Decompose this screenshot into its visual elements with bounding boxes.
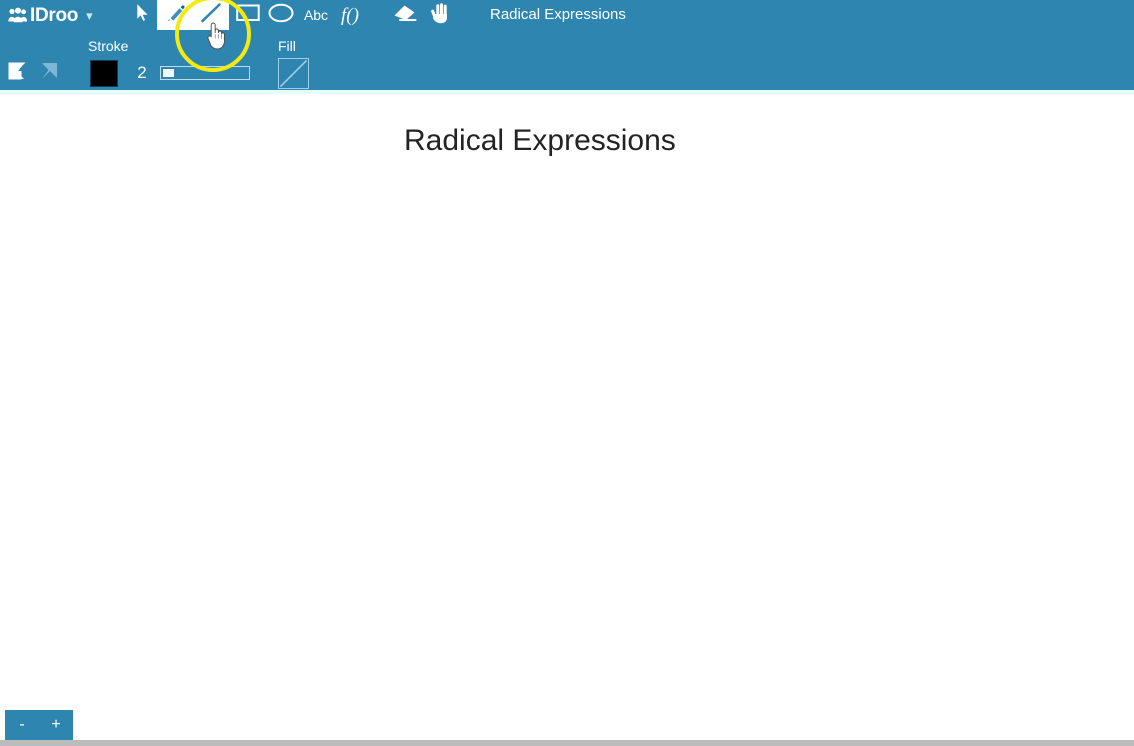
canvas-title-text[interactable]: Radical Expressions bbox=[404, 122, 676, 160]
fill-label: Fill bbox=[278, 39, 296, 53]
redo-button[interactable] bbox=[34, 58, 64, 88]
app-menu-button[interactable]: IDroo ▾ bbox=[8, 3, 93, 27]
tool-select[interactable] bbox=[125, 0, 161, 30]
tool-rectangle[interactable] bbox=[230, 0, 266, 30]
cursor-arrow-icon bbox=[136, 3, 150, 27]
idroo-whiteboard-app: IDroo ▾ bbox=[0, 0, 1134, 746]
pencil-icon bbox=[164, 2, 186, 29]
tool-formula[interactable]: f() bbox=[332, 0, 368, 30]
tool-pen[interactable] bbox=[157, 0, 193, 30]
stroke-width-slider[interactable] bbox=[160, 66, 250, 80]
hand-icon bbox=[429, 1, 453, 30]
whiteboard-canvas[interactable]: Radical Expressions bbox=[0, 94, 1134, 740]
stroke-color-swatch[interactable] bbox=[90, 60, 118, 87]
undo-arrow-icon bbox=[5, 59, 29, 88]
stroke-label: Stroke bbox=[88, 39, 128, 53]
formula-icon: f() bbox=[341, 6, 359, 25]
rectangle-icon bbox=[236, 4, 260, 27]
zoom-in-button[interactable]: + bbox=[39, 710, 73, 740]
stroke-width-slider-handle[interactable] bbox=[163, 69, 174, 77]
app-name-label: IDroo bbox=[30, 6, 78, 25]
tool-ellipse[interactable] bbox=[263, 0, 299, 30]
no-fill-icon bbox=[279, 59, 308, 88]
zoom-control: - + bbox=[5, 710, 73, 740]
horizontal-scrollbar-thumb[interactable] bbox=[0, 740, 1134, 746]
document-title-label: Radical Expressions bbox=[490, 4, 626, 26]
toolbar: IDroo ▾ bbox=[0, 0, 1134, 90]
line-icon bbox=[199, 1, 223, 30]
eraser-icon bbox=[392, 2, 418, 29]
tool-line[interactable] bbox=[193, 0, 229, 30]
text-abc-icon: Abc bbox=[304, 8, 328, 22]
horizontal-scrollbar[interactable] bbox=[0, 740, 1134, 746]
redo-arrow-icon bbox=[37, 59, 61, 88]
tool-eraser[interactable] bbox=[387, 0, 423, 30]
tool-text[interactable]: Abc bbox=[298, 0, 334, 30]
ellipse-icon bbox=[268, 3, 294, 28]
zoom-out-button[interactable]: - bbox=[5, 710, 39, 740]
stroke-width-value: 2 bbox=[132, 62, 152, 84]
chevron-down-icon[interactable]: ▾ bbox=[86, 9, 93, 22]
undo-button[interactable] bbox=[2, 58, 32, 88]
tool-pan[interactable] bbox=[423, 0, 459, 30]
people-group-icon bbox=[8, 7, 27, 24]
fill-color-swatch[interactable] bbox=[278, 58, 309, 89]
